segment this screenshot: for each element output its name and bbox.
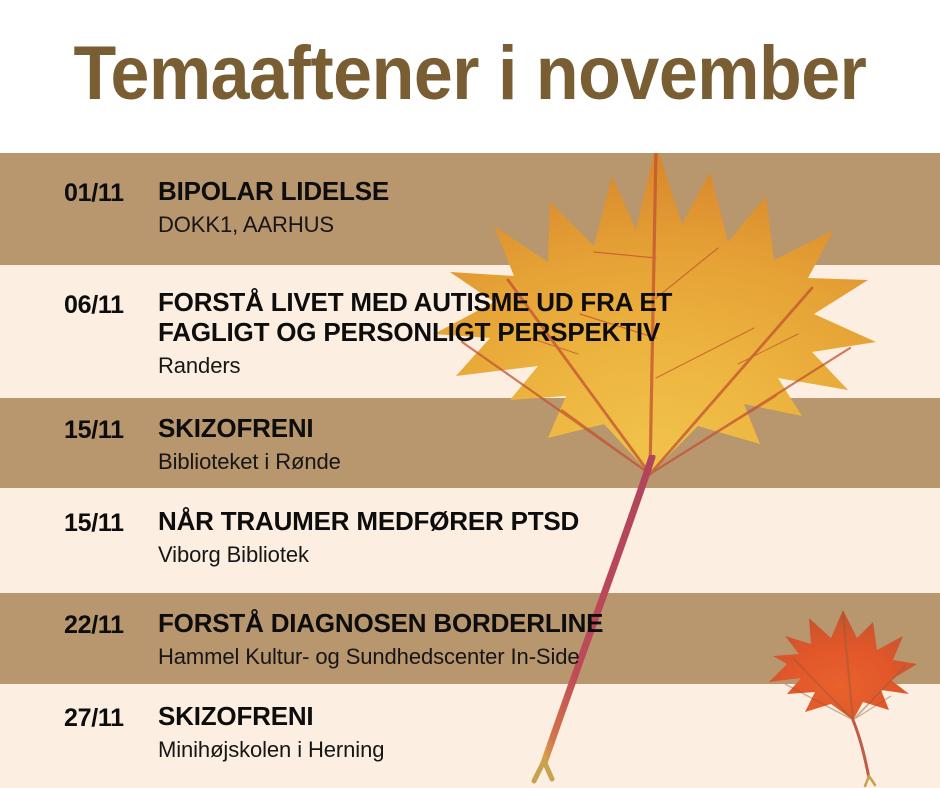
event-details: BIPOLAR LIDELSE DOKK1, AARHUS — [158, 153, 940, 238]
event-details: SKIZOFRENI Biblioteket i Rønde — [158, 398, 940, 475]
event-row[interactable]: 06/11 FORSTÅ LIVET MED AUTISME UD FRA ET… — [0, 265, 940, 398]
event-row[interactable]: 01/11 BIPOLAR LIDELSE DOKK1, AARHUS — [0, 153, 940, 265]
event-title: SKIZOFRENI — [158, 414, 940, 444]
event-row[interactable]: 22/11 FORSTÅ DIAGNOSEN BORDERLINE Hammel… — [0, 593, 940, 684]
event-venue: Minihøjskolen i Herning — [158, 737, 940, 763]
event-details: FORSTÅ LIVET MED AUTISME UD FRA ET FAGLI… — [158, 265, 940, 379]
event-date: 01/11 — [0, 153, 158, 208]
event-venue: Hammel Kultur- og Sundhedscenter In-Side — [158, 644, 940, 670]
event-details: NÅR TRAUMER MEDFØRER PTSD Viborg Bibliot… — [158, 488, 940, 568]
event-venue: Viborg Bibliotek — [158, 542, 940, 568]
event-date: 06/11 — [0, 265, 158, 320]
event-title: SKIZOFRENI — [158, 702, 940, 732]
poster-canvas: Temaaftener i november 01/11 BIPOLAR LID… — [0, 0, 940, 788]
event-title: FORSTÅ LIVET MED AUTISME UD FRA ET FAGLI… — [158, 288, 940, 348]
event-date: 27/11 — [0, 684, 158, 733]
event-details: SKIZOFRENI Minihøjskolen i Herning — [158, 684, 940, 763]
event-title: FORSTÅ DIAGNOSEN BORDERLINE — [158, 609, 940, 639]
event-row[interactable]: 15/11 SKIZOFRENI Biblioteket i Rønde — [0, 398, 940, 488]
event-details: FORSTÅ DIAGNOSEN BORDERLINE Hammel Kultu… — [158, 593, 940, 670]
event-row[interactable]: 15/11 NÅR TRAUMER MEDFØRER PTSD Viborg B… — [0, 488, 940, 593]
event-venue: DOKK1, AARHUS — [158, 212, 940, 238]
event-venue: Biblioteket i Rønde — [158, 449, 940, 475]
event-list: 01/11 BIPOLAR LIDELSE DOKK1, AARHUS 06/1… — [0, 0, 940, 788]
event-venue: Randers — [158, 353, 940, 379]
event-date: 22/11 — [0, 593, 158, 640]
event-date: 15/11 — [0, 488, 158, 538]
event-title: NÅR TRAUMER MEDFØRER PTSD — [158, 507, 940, 537]
event-row[interactable]: 27/11 SKIZOFRENI Minihøjskolen i Herning — [0, 684, 940, 788]
event-date: 15/11 — [0, 398, 158, 445]
event-title: BIPOLAR LIDELSE — [158, 177, 940, 207]
